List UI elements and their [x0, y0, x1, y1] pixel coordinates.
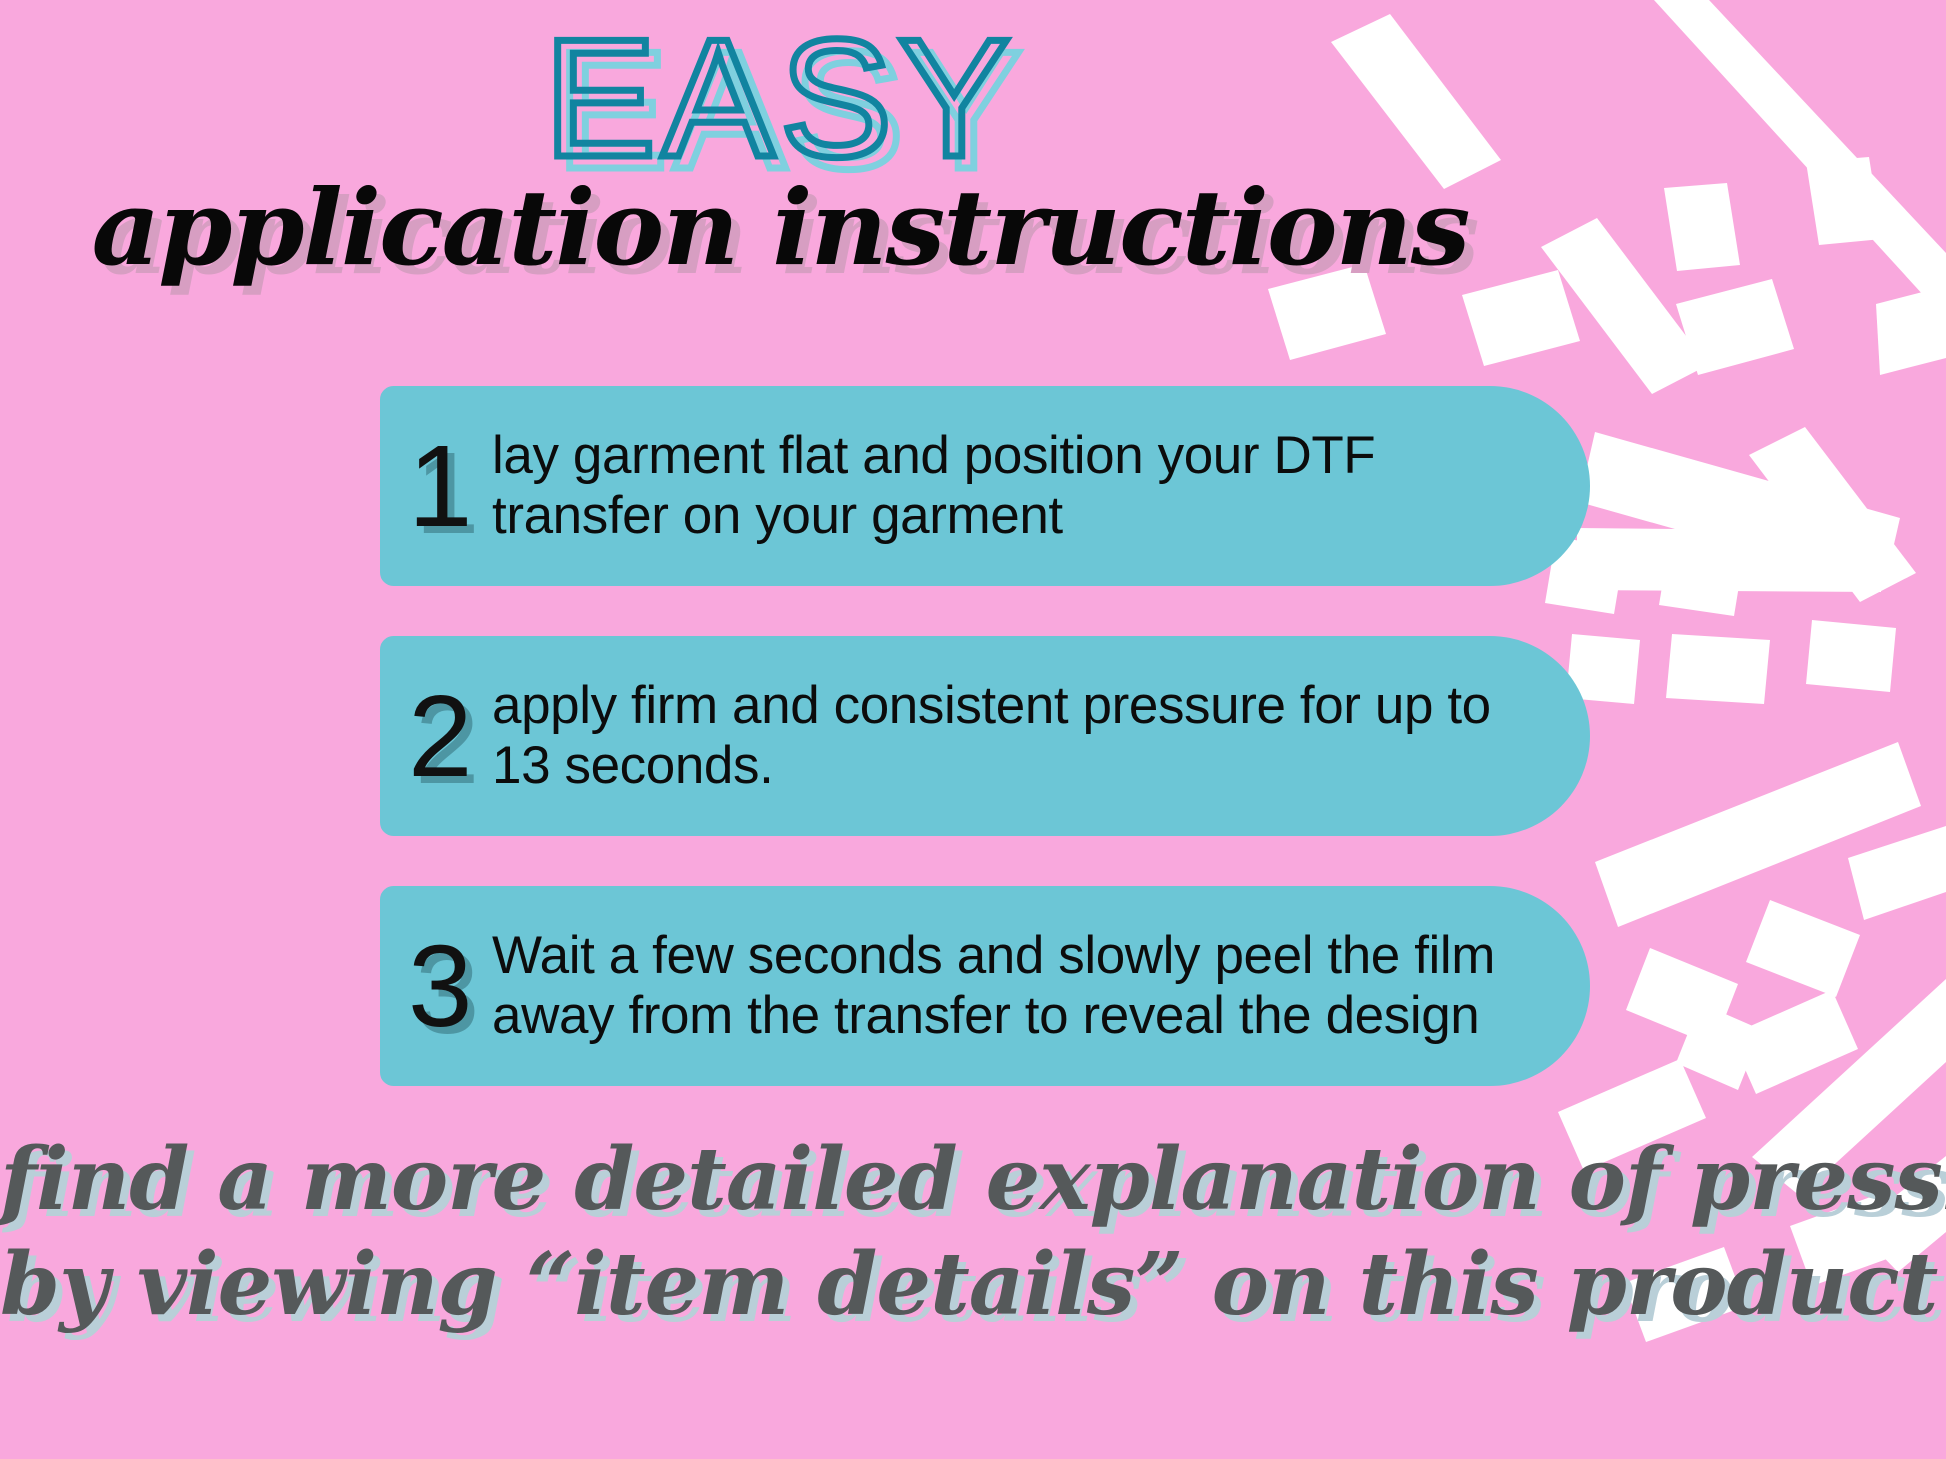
footer-line-2: by viewing “item details” on this produc…	[0, 1233, 1946, 1338]
instruction-step-2: 2 apply firm and consistent pressure for…	[380, 636, 1590, 836]
instruction-steps-list: 1 lay garment flat and position your DTF…	[380, 386, 1590, 1136]
instruction-step-1: 1 lay garment flat and position your DTF…	[380, 386, 1590, 586]
page-subtitle: application instructions	[0, 176, 1576, 280]
step-number-3: 3	[408, 933, 492, 1040]
step-text-3: Wait a few seconds and slowly peel the f…	[492, 926, 1550, 1047]
step-text-1: lay garment flat and position your DTF t…	[492, 426, 1550, 547]
footer-line-1: find a more detailed explanation of pres…	[0, 1128, 1946, 1233]
footer-note: find a more detailed explanation of pres…	[0, 1128, 1946, 1338]
step-number-1: 1	[408, 433, 492, 540]
page-title: EASY	[0, 14, 1560, 182]
step-text-2: apply firm and consistent pressure for u…	[492, 676, 1550, 797]
instruction-step-3: 3 Wait a few seconds and slowly peel the…	[380, 886, 1590, 1086]
poster-canvas: EASY EASY application instructions 1 lay…	[0, 0, 1946, 1459]
step-number-2: 2	[408, 683, 492, 790]
